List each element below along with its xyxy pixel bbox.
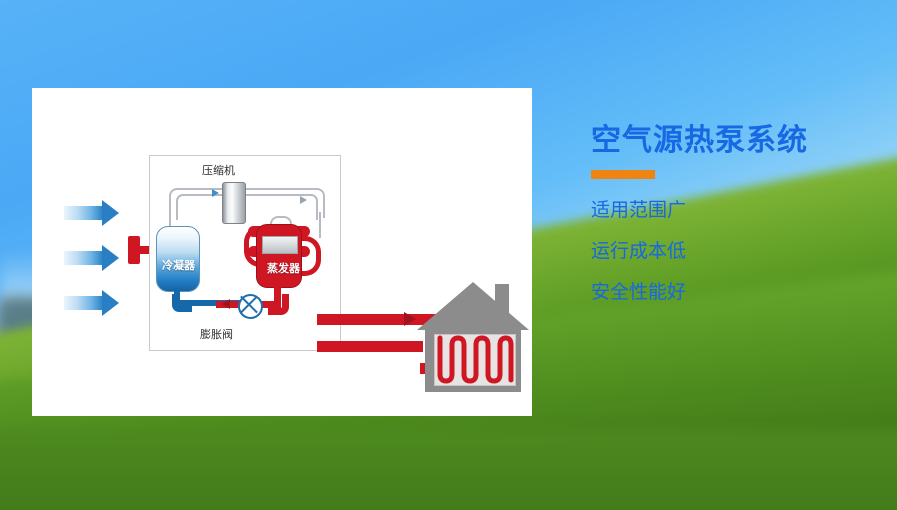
condenser-label: 冷凝器 xyxy=(162,257,195,273)
supply-flow-arrow-icon xyxy=(404,312,416,326)
bullet-item-3: 安全性能好 xyxy=(591,283,891,302)
bullet-list: 适用范围广 运行成本低 安全性能好 xyxy=(591,201,891,302)
flow-arrow-left-icon xyxy=(212,189,219,197)
radiant-floor-coil xyxy=(434,334,514,384)
refrigerant-loop-right-leg xyxy=(319,212,321,238)
hot-flow-arrow-icon xyxy=(222,299,230,309)
air-flow-arrow-3 xyxy=(64,296,102,310)
evaporator-core xyxy=(262,236,298,254)
expansion-valve-label: 膨胀阀 xyxy=(200,326,233,342)
flow-arrow-right-icon xyxy=(300,196,307,204)
roof xyxy=(417,282,529,330)
bullet-item-2: 运行成本低 xyxy=(591,242,891,261)
return-pipe-from-house xyxy=(317,341,423,352)
house-icon xyxy=(417,282,529,392)
expansion-valve-icon xyxy=(238,294,263,319)
evaporator-unit xyxy=(256,224,302,288)
refrigeration-cycle-box: 压缩机 膨胀阀 冷凝器 蒸发器 xyxy=(149,155,341,351)
compressor-label: 压缩机 xyxy=(202,162,235,178)
air-flow-arrow-2 xyxy=(64,251,102,265)
title-accent-bar xyxy=(591,170,655,179)
page-title: 空气源热泵系统 xyxy=(591,124,891,159)
compressor-unit xyxy=(222,182,246,224)
evaporator-label: 蒸发器 xyxy=(267,260,300,276)
grass-bottom xyxy=(0,430,897,510)
refrigerant-loop-inner xyxy=(176,194,318,220)
diagram-panel: 压缩机 膨胀阀 冷凝器 蒸发器 xyxy=(32,88,532,416)
text-column: 空气源热泵系统 适用范围广 运行成本低 安全性能好 xyxy=(591,124,891,324)
slide-canvas: 压缩机 膨胀阀 冷凝器 蒸发器 xyxy=(0,0,897,510)
air-flow-arrow-1 xyxy=(64,206,102,220)
bullet-item-1: 适用范围广 xyxy=(591,201,891,220)
